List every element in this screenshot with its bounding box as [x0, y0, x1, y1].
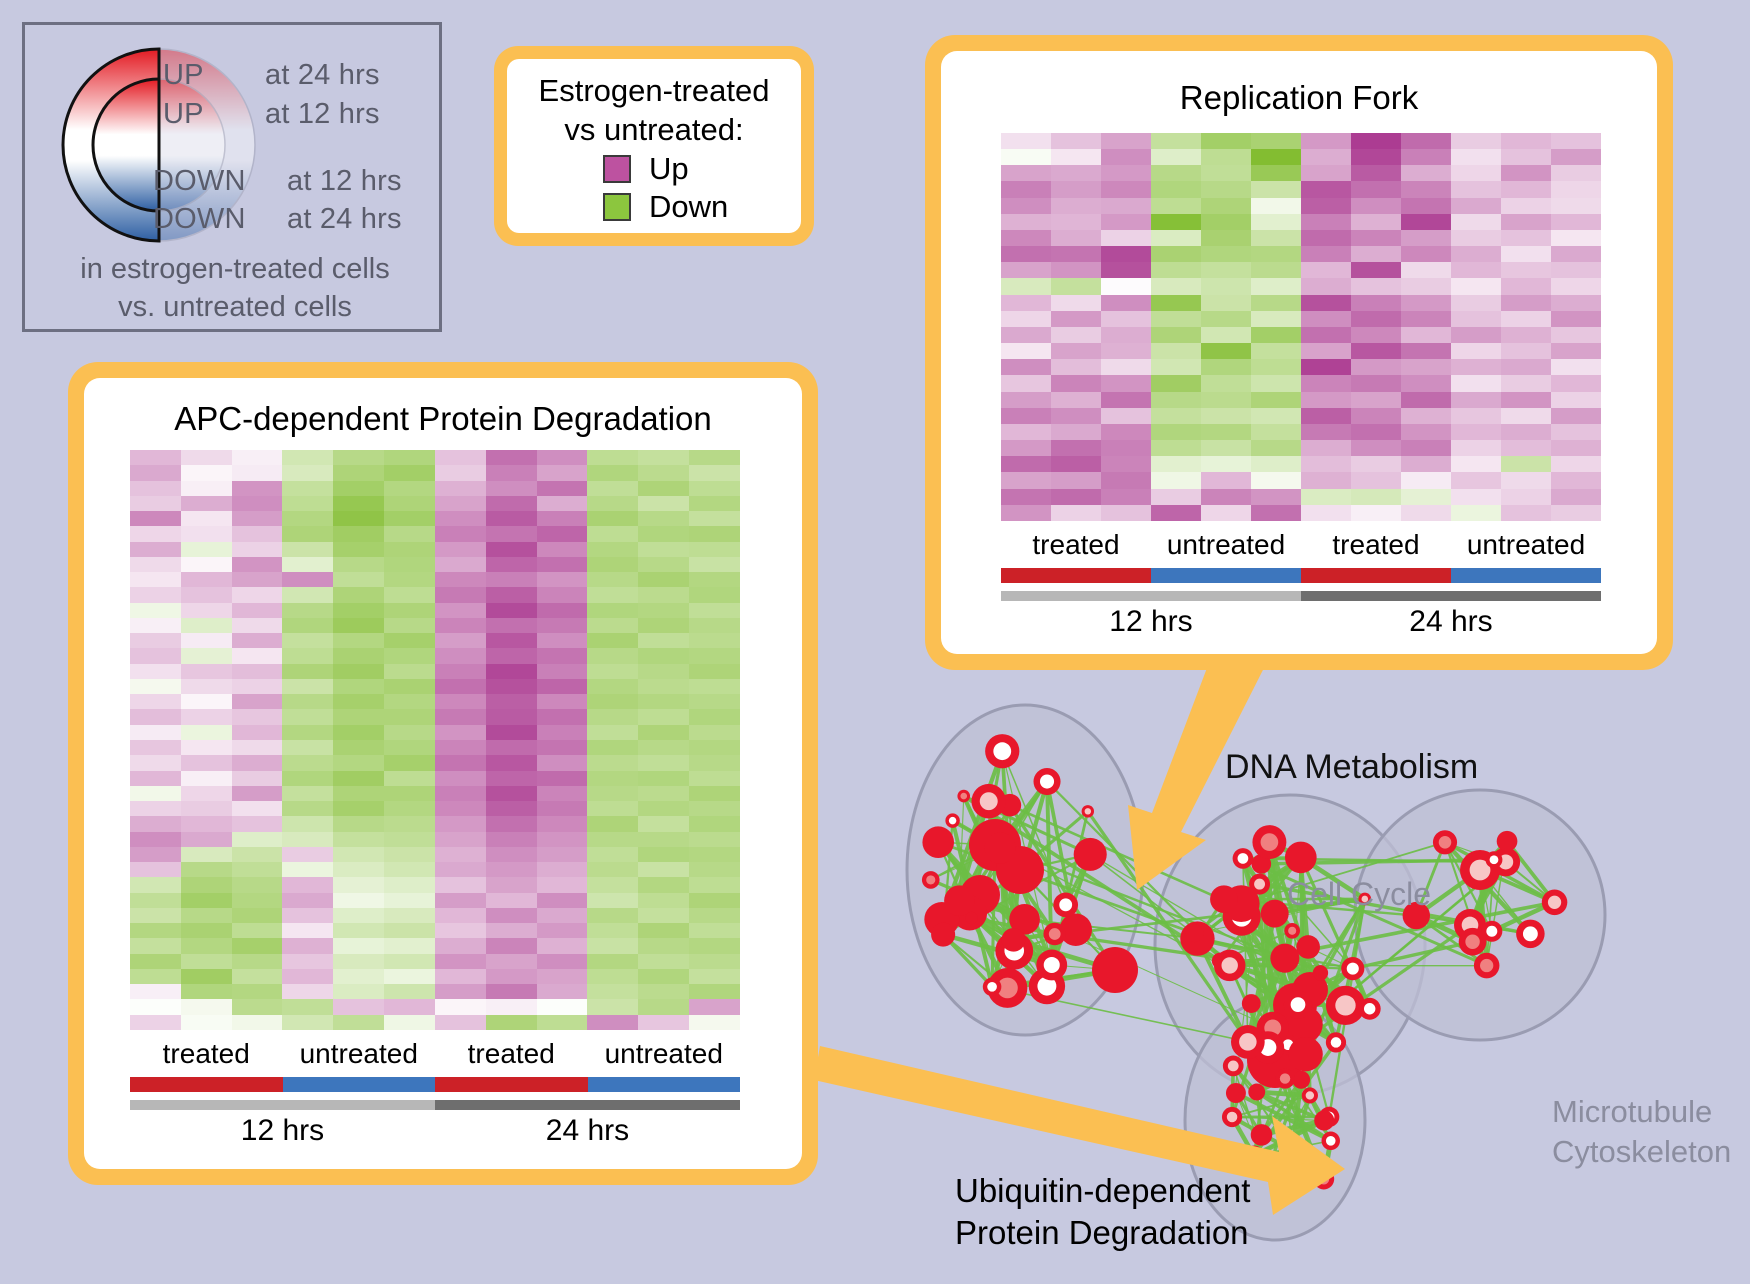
network-node-core [1291, 997, 1306, 1012]
sample-label-untreated-12: untreated [1151, 529, 1301, 561]
cluster-label-ubiquitin-degradation: Ubiquitin-dependent Protein Degradation [955, 1170, 1250, 1254]
sample-label-treated-24: treated [1301, 529, 1451, 561]
network-node [1186, 924, 1204, 942]
sample-label-treated-12: treated [130, 1038, 283, 1070]
network-node-core [1059, 898, 1072, 911]
network-node-core [1439, 836, 1452, 849]
network-node [1074, 838, 1107, 871]
time-segment [1001, 591, 1301, 601]
heatmap-apc-degradation [130, 450, 740, 1030]
network-node-core [1040, 774, 1054, 788]
network-node [1285, 842, 1317, 874]
time-label-24hrs: 24 hrs [1301, 605, 1601, 639]
apc-time-bar [130, 1100, 740, 1110]
sample-label-untreated-12: untreated [283, 1038, 436, 1070]
legend-label-down: Down [649, 189, 728, 225]
network-node [922, 826, 954, 858]
legend-swatch-down-icon [603, 193, 631, 221]
legend-item-down: Down [603, 189, 728, 225]
legend-panel-inner: Estrogen-treated vs untreated: Up Down [507, 59, 801, 233]
heatmap-replication-fork [1001, 133, 1601, 521]
network-node-core [1221, 957, 1237, 973]
figure-canvas: UP at 24 hrs UP at 12 hrs DOWN at 12 hrs… [0, 0, 1750, 1279]
time-segment [130, 1100, 435, 1110]
network-node [1092, 947, 1138, 993]
sample-label-treated-24: treated [435, 1038, 588, 1070]
legend-title-line1: Estrogen-treated [507, 71, 801, 110]
legend-swatch-up-icon [603, 155, 631, 183]
apc-time-labels: 12 hrs 24 hrs [130, 1114, 740, 1148]
network-node-core [1465, 935, 1479, 949]
network-node-core [1548, 896, 1561, 909]
network-node-core [1085, 808, 1091, 814]
time-label-12hrs: 12 hrs [1001, 605, 1301, 639]
panel-apc-degradation: APC-dependent Protein Degradation treate… [68, 362, 818, 1185]
network-node-core [1490, 855, 1499, 864]
updown-legend-panel: Estrogen-treated vs untreated: Up Down [494, 46, 814, 246]
apc-panel-inner: APC-dependent Protein Degradation treate… [84, 378, 802, 1169]
network-node [944, 885, 975, 916]
network-node-core [1326, 1136, 1336, 1146]
condition-segment [1301, 568, 1451, 583]
network-node [1242, 994, 1261, 1013]
network-node [1270, 944, 1299, 973]
key-direction-3: DOWN [153, 203, 246, 236]
network-node-core [1335, 995, 1355, 1015]
network-node [1248, 1084, 1265, 1101]
apc-panel-title: APC-dependent Protein Degradation [84, 400, 802, 438]
network-node [1296, 935, 1320, 959]
network-node-core [1228, 1061, 1239, 1072]
condition-segment [1151, 568, 1301, 583]
network-node [1314, 1111, 1334, 1131]
network-node-core [949, 817, 956, 824]
sample-label-untreated-24: untreated [1451, 529, 1601, 561]
condition-segment [130, 1077, 283, 1092]
sample-label-untreated-24: untreated [588, 1038, 741, 1070]
network-node [1260, 1163, 1276, 1179]
condition-segment [283, 1077, 436, 1092]
network-node [1288, 1037, 1322, 1071]
network-node [1226, 1083, 1246, 1103]
network-node-core [1254, 879, 1265, 890]
key-direction-1: UP [163, 98, 204, 131]
network-node-core [980, 792, 998, 810]
legend-item-up: Up [603, 151, 689, 187]
panel-replication-fork: Replication Fork treated untreated treat… [925, 35, 1673, 670]
network-node-core [993, 742, 1011, 760]
replication-fork-title: Replication Fork [941, 79, 1657, 117]
network-node-core [987, 982, 997, 992]
network-node-core [1280, 1073, 1290, 1083]
network-node [1251, 1124, 1273, 1146]
legend-title-line2: vs untreated: [507, 110, 801, 149]
network-node [1497, 831, 1518, 852]
key-direction-2: DOWN [153, 165, 246, 198]
network-node [984, 832, 1015, 863]
cluster-label-cell-cycle: Cell Cycle [1287, 876, 1431, 913]
key-footer-line1: in estrogen-treated cells [25, 250, 445, 288]
key-footer: in estrogen-treated cells vs. untreated … [25, 250, 445, 326]
replication-fork-inner: Replication Fork treated untreated treat… [941, 51, 1657, 654]
network-node-core [1049, 928, 1061, 940]
network-node-core [1347, 963, 1359, 975]
condition-segment [588, 1077, 741, 1092]
network-node [1244, 1146, 1264, 1166]
network-node-core [1044, 957, 1060, 973]
key-direction-0: UP [163, 59, 204, 92]
network-node-core [1306, 1091, 1314, 1099]
network-node-core [926, 875, 935, 884]
time-segment [435, 1100, 740, 1110]
apc-condition-bar [130, 1077, 740, 1092]
network-node-core [1261, 833, 1279, 851]
replication-fork-condition-bar [1001, 568, 1601, 583]
time-label-24hrs: 24 hrs [435, 1114, 740, 1148]
condition-segment [1451, 568, 1601, 583]
condition-segment [1001, 568, 1151, 583]
network-node [1261, 900, 1289, 928]
network-node-core [1238, 853, 1249, 864]
network-node-core [1227, 1112, 1238, 1123]
network-node-core [1318, 1174, 1329, 1185]
network-node-core [1239, 1033, 1257, 1051]
network-node-core [1523, 926, 1538, 941]
network-node-core [1288, 927, 1296, 935]
sample-label-treated-12: treated [1001, 529, 1151, 561]
network-node-core [960, 793, 967, 800]
key-time-1: at 12 hrs [265, 98, 380, 131]
key-time-2: at 12 hrs [287, 165, 402, 198]
condition-segment [435, 1077, 588, 1092]
network-node-core [1486, 926, 1497, 937]
network-node-core [1364, 1003, 1375, 1014]
network-node [1210, 885, 1238, 913]
network-node [966, 912, 978, 924]
replication-fork-sample-labels: treated untreated treated untreated [1001, 529, 1601, 561]
network-node [931, 923, 955, 947]
legend-label-up: Up [649, 151, 689, 187]
apc-sample-labels: treated untreated treated untreated [130, 1038, 740, 1070]
replication-fork-time-labels: 12 hrs 24 hrs [1001, 605, 1601, 639]
key-time-3: at 24 hrs [287, 203, 402, 236]
key-footer-line2: vs. untreated cells [25, 288, 445, 326]
time-segment [1301, 591, 1601, 601]
key-time-0: at 24 hrs [265, 59, 380, 92]
cluster-label-dna-metabolism: DNA Metabolism [1225, 748, 1478, 787]
network-node-core [1331, 1037, 1342, 1048]
time-label-12hrs: 12 hrs [130, 1114, 435, 1148]
replication-fork-time-bar [1001, 591, 1601, 601]
network-node-core [1480, 959, 1493, 972]
network-node [1282, 1140, 1304, 1162]
cluster-label-microtubule-cytoskeleton: Microtubule Cytoskeleton [1552, 1092, 1731, 1172]
colorbar-key-box: UP at 24 hrs UP at 12 hrs DOWN at 12 hrs… [22, 22, 442, 332]
network-node [1002, 928, 1026, 952]
legend-title: Estrogen-treated vs untreated: [507, 71, 801, 149]
network-node [1313, 965, 1328, 980]
